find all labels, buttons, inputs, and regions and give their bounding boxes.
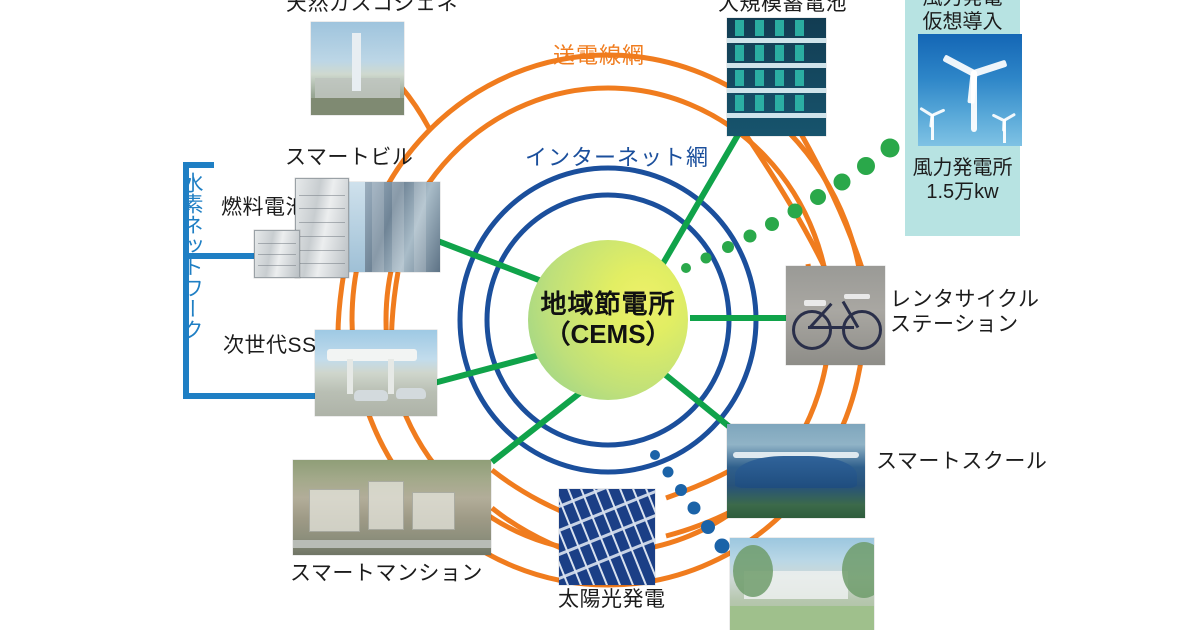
wind-dotted-link — [681, 139, 900, 274]
photo-wind-farm — [918, 34, 1022, 146]
label-cogen: 天然ガスコジェネ — [286, 0, 458, 17]
photo-building — [338, 182, 440, 272]
wind-virtual-panel: 風力発電 仮想導入 風力発電所 1.5万kw — [905, 0, 1020, 236]
wind-caption-bottom: 風力発電所 1.5万kw — [905, 156, 1020, 204]
photo-smart-school — [727, 424, 865, 518]
photo-pavilion — [730, 538, 874, 630]
wind-caption-top: 風力発電 仮想導入 — [905, 0, 1020, 34]
diagram-canvas: 地域節電所 （CEMS） 送電線網 インターネット網 水素ネットワーク 天然ガス… — [0, 0, 1200, 630]
turbine-small-left — [922, 106, 944, 138]
label-ss: 次世代SS — [223, 334, 317, 359]
cems-center-node[interactable]: 地域節電所 （CEMS） — [528, 240, 688, 400]
label-cycle: レンタサイクル ステーション — [890, 288, 1039, 338]
photo-solar — [559, 489, 655, 585]
power-grid-ring-label: 送電線網 — [553, 38, 645, 70]
label-school: スマートスクール — [876, 450, 1047, 475]
photo-fuelcell-short — [254, 230, 300, 278]
internet-ring-label: インターネット網 — [525, 140, 709, 172]
photo-next-gen-ss — [315, 330, 437, 416]
spoke-to-apartment — [492, 385, 590, 462]
turbine-small-right — [994, 112, 1016, 142]
photo-fuelcell-tall — [295, 178, 349, 278]
turbine-main — [952, 52, 996, 132]
label-battery: 大規模蓄電池 — [718, 0, 847, 17]
label-building: スマートビル — [285, 146, 413, 171]
label-apartment: スマートマンション — [290, 562, 483, 587]
hydrogen-network-label: 水素ネットワーク — [176, 172, 202, 340]
photo-battery — [727, 18, 826, 136]
photo-rental-cycle — [786, 266, 885, 365]
cems-title-line1: 地域節電所 — [540, 290, 675, 319]
solar-panel-stripe — [611, 489, 655, 585]
photo-cogen — [311, 22, 404, 115]
photo-smart-apartment — [293, 460, 491, 555]
cems-title-line2: （CEMS） — [544, 319, 671, 350]
label-solar: 太陽光発電 — [558, 588, 666, 613]
